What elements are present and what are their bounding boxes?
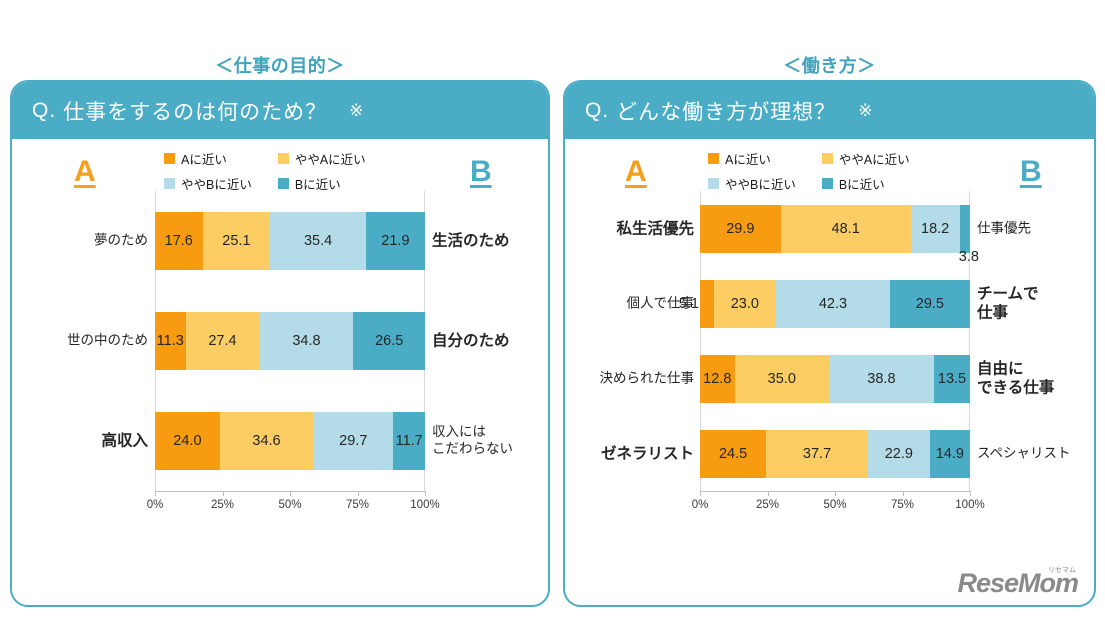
question-prefix: Q. xyxy=(585,99,609,123)
asterisk-note-icon: ※ xyxy=(349,101,364,121)
bar-value-label: 35.4 xyxy=(304,233,332,249)
bar-value-label: 42.3 xyxy=(819,296,847,312)
question-prefix: Q. xyxy=(32,99,56,123)
bar-value-label: 34.8 xyxy=(292,333,320,349)
row-label-a: 決められた仕事 xyxy=(564,370,694,387)
bar-value-label: 11.7 xyxy=(396,433,423,449)
bar-value-label: 24.5 xyxy=(719,446,747,462)
chart-area: A B Aに近いややAに近いややBに近いBに近い 0%25%50%75%100%… xyxy=(565,139,1094,607)
chart-row: 夢のため生活のため17.625.135.421.9 xyxy=(12,212,550,270)
side-a-marker: A xyxy=(74,155,96,189)
bar-segment: 29.5 xyxy=(890,280,970,328)
x-axis-tick xyxy=(290,491,291,496)
chart-legend: Aに近いややAに近いややBに近いBに近い xyxy=(708,149,910,193)
row-label-b: スペシャリスト xyxy=(977,445,1096,462)
row-label-b: 自分のため xyxy=(432,331,550,350)
stacked-bar: 24.034.629.711.7 xyxy=(155,412,425,470)
bar-value-label: 24.0 xyxy=(173,433,201,449)
legend-swatch-icon xyxy=(278,178,289,189)
question-header: Q. 仕事をするのは何のため？ ※ xyxy=(12,82,548,139)
row-label-a: 私生活優先 xyxy=(564,219,694,238)
question-text: 仕事をするのは何のため？ xyxy=(63,96,327,126)
bar-value-label: 13.5 xyxy=(938,371,966,387)
chart-plot: 0%25%50%75%100% 夢のため生活のため17.625.135.421.… xyxy=(12,191,550,551)
bar-value-label: 21.9 xyxy=(381,233,409,249)
panel-title: ＜仕事の目的＞ xyxy=(10,52,550,78)
row-label-a: 高収入 xyxy=(10,431,148,450)
x-axis-tick xyxy=(155,491,156,496)
logo-ruby: リセマム xyxy=(1048,565,1076,575)
chart-row: 個人で仕事チームで 仕事5.123.042.329.5 xyxy=(565,280,1096,328)
legend-label: ややAに近い xyxy=(839,149,910,168)
legend-item: ややAに近い xyxy=(278,149,366,168)
bar-value-label: 17.6 xyxy=(165,233,193,249)
panel-title: ＜働き方＞ xyxy=(563,52,1096,78)
x-tick-label: 50% xyxy=(278,499,301,511)
x-tick-label: 25% xyxy=(211,499,234,511)
side-a-marker: A xyxy=(625,155,647,189)
bar-value-label: 37.7 xyxy=(803,446,831,462)
bar-value-label: 14.9 xyxy=(936,446,964,462)
stacked-bar: 24.537.722.914.9 xyxy=(700,430,970,478)
x-axis-tick xyxy=(358,491,359,496)
legend-label: Aに近い xyxy=(725,149,771,168)
bar-value-label: 23.0 xyxy=(731,296,759,312)
legend-swatch-icon xyxy=(164,178,175,189)
panel-work-style: ＜働き方＞ Q. どんな働き方が理想？ ※ A B Aに近いややAに近いややBに… xyxy=(563,80,1096,607)
bar-segment: 35.4 xyxy=(270,212,366,270)
x-axis-tick xyxy=(835,491,836,496)
chart-row: 私生活優先仕事優先29.948.118.23.8 xyxy=(565,205,1096,253)
chart-row: 世の中のため自分のため11.327.434.826.5 xyxy=(12,312,550,370)
bar-segment: 48.1 xyxy=(781,205,911,253)
x-axis-tick xyxy=(768,491,769,496)
bar-value-label: 22.9 xyxy=(885,446,913,462)
side-b-marker: B xyxy=(1020,155,1042,189)
bar-value-label: 35.0 xyxy=(768,371,796,387)
chart-row: 高収入収入には こだわらない24.034.629.711.7 xyxy=(12,412,550,470)
legend-swatch-icon xyxy=(708,178,719,189)
panel-card: Q. 仕事をするのは何のため？ ※ A B Aに近いややAに近いややBに近いBに… xyxy=(10,80,550,607)
x-axis-tick xyxy=(970,491,971,496)
x-tick-label: 75% xyxy=(346,499,369,511)
bar-segment: 21.9 xyxy=(366,212,425,270)
bar-segment: 24.5 xyxy=(700,430,766,478)
bar-segment: 24.0 xyxy=(155,412,220,470)
bar-value-label: 27.4 xyxy=(208,333,236,349)
resemom-logo: ReseMom リセマム xyxy=(957,568,1078,599)
x-axis-tick xyxy=(700,491,701,496)
bar-segment: 22.9 xyxy=(868,430,930,478)
legend-swatch-icon xyxy=(278,153,289,164)
side-b-marker: B xyxy=(470,155,492,189)
legend-item: Aに近い xyxy=(164,149,252,168)
row-label-a: 世の中のため xyxy=(10,333,148,350)
legend-swatch-icon xyxy=(822,178,833,189)
row-label-b: 自由に できる仕事 xyxy=(977,359,1096,398)
row-label-b: 生活のため xyxy=(432,231,550,250)
bar-value-label: 38.8 xyxy=(867,371,895,387)
bar-value-label: 29.5 xyxy=(916,296,944,312)
infographic-stage: ＜仕事の目的＞ Q. 仕事をするのは何のため？ ※ A B Aに近いややAに近い… xyxy=(0,0,1105,627)
stacked-bar: 5.123.042.329.5 xyxy=(700,280,970,328)
x-axis-labels: 0%25%50%75%100% xyxy=(155,499,425,517)
bar-value-label: 48.1 xyxy=(832,221,860,237)
x-axis-tick xyxy=(903,491,904,496)
bar-segment: 26.5 xyxy=(353,312,425,370)
x-tick-label: 75% xyxy=(891,499,914,511)
bar-segment: 18.2 xyxy=(911,205,960,253)
bar-value-label: 11.3 xyxy=(157,333,184,349)
chart-plot: 0%25%50%75%100% 私生活優先仕事優先29.948.118.23.8… xyxy=(565,191,1096,551)
bar-value-label: 12.8 xyxy=(703,371,731,387)
x-tick-label: 0% xyxy=(692,499,709,511)
bar-segment: 42.3 xyxy=(776,280,890,328)
row-label-a: 個人で仕事 xyxy=(564,295,694,312)
asterisk-note-icon: ※ xyxy=(858,101,873,121)
bar-value-label: 25.1 xyxy=(222,233,250,249)
row-label-b: 収入には こだわらない xyxy=(432,424,550,458)
chart-area: A B Aに近いややAに近いややBに近いBに近い 0%25%50%75%100%… xyxy=(12,139,548,607)
chart-row: ゼネラリストスペシャリスト24.537.722.914.9 xyxy=(565,430,1096,478)
bar-segment: 34.6 xyxy=(220,412,313,470)
bar-segment: 11.3 xyxy=(155,312,186,370)
bar-value-label: 3.8 xyxy=(959,249,979,265)
bar-segment: 38.8 xyxy=(829,355,934,403)
bar-value-label: 29.7 xyxy=(339,433,367,449)
x-axis-labels: 0%25%50%75%100% xyxy=(700,499,970,517)
chart-row: 決められた仕事自由に できる仕事12.835.038.813.5 xyxy=(565,355,1096,403)
row-label-b: 仕事優先 xyxy=(977,220,1096,237)
legend-swatch-icon xyxy=(822,153,833,164)
x-tick-label: 50% xyxy=(823,499,846,511)
x-tick-label: 0% xyxy=(147,499,164,511)
stacked-bar: 12.835.038.813.5 xyxy=(700,355,970,403)
bar-value-label: 5.1 xyxy=(679,296,699,312)
bar-segment: 17.6 xyxy=(155,212,203,270)
question-header: Q. どんな働き方が理想？ ※ xyxy=(565,82,1094,139)
legend-label: ややAに近い xyxy=(295,149,366,168)
bar-segment: 34.8 xyxy=(259,312,353,370)
bar-segment: 25.1 xyxy=(203,212,271,270)
question-text: どんな働き方が理想？ xyxy=(616,96,836,126)
bar-segment: 29.7 xyxy=(313,412,393,470)
stacked-bar: 29.948.118.23.8 xyxy=(700,205,970,253)
x-tick-label: 100% xyxy=(955,499,984,511)
panel-card: Q. どんな働き方が理想？ ※ A B Aに近いややAに近いややBに近いBに近い… xyxy=(563,80,1096,607)
bar-segment: 5.1 xyxy=(700,280,714,328)
bar-segment: 27.4 xyxy=(186,312,260,370)
x-axis-tick xyxy=(425,491,426,496)
bar-value-label: 18.2 xyxy=(921,221,949,237)
x-axis-tick xyxy=(223,491,224,496)
row-label-a: ゼネラリスト xyxy=(564,444,694,463)
bar-segment: 3.8 xyxy=(960,205,970,253)
bar-segment: 29.9 xyxy=(700,205,781,253)
row-label-a: 夢のため xyxy=(10,233,148,250)
bar-segment: 37.7 xyxy=(766,430,868,478)
bar-value-label: 29.9 xyxy=(726,221,754,237)
x-tick-label: 100% xyxy=(410,499,439,511)
legend-item: ややAに近い xyxy=(822,149,910,168)
stacked-bar: 11.327.434.826.5 xyxy=(155,312,425,370)
bar-segment: 14.9 xyxy=(930,430,970,478)
bar-segment: 23.0 xyxy=(714,280,776,328)
legend-item: Aに近い xyxy=(708,149,796,168)
legend-label: Aに近い xyxy=(181,149,227,168)
legend-swatch-icon xyxy=(164,153,175,164)
chart-legend: Aに近いややAに近いややBに近いBに近い xyxy=(164,149,366,193)
bar-segment: 13.5 xyxy=(934,355,970,403)
bar-segment: 35.0 xyxy=(735,355,830,403)
legend-swatch-icon xyxy=(708,153,719,164)
bar-segment: 12.8 xyxy=(700,355,735,403)
row-label-b: チームで 仕事 xyxy=(977,284,1096,323)
bar-segment: 11.7 xyxy=(393,412,425,470)
bar-value-label: 26.5 xyxy=(375,333,403,349)
bar-value-label: 34.6 xyxy=(252,433,280,449)
panel-work-purpose: ＜仕事の目的＞ Q. 仕事をするのは何のため？ ※ A B Aに近いややAに近い… xyxy=(10,80,550,607)
x-tick-label: 25% xyxy=(756,499,779,511)
stacked-bar: 17.625.135.421.9 xyxy=(155,212,425,270)
